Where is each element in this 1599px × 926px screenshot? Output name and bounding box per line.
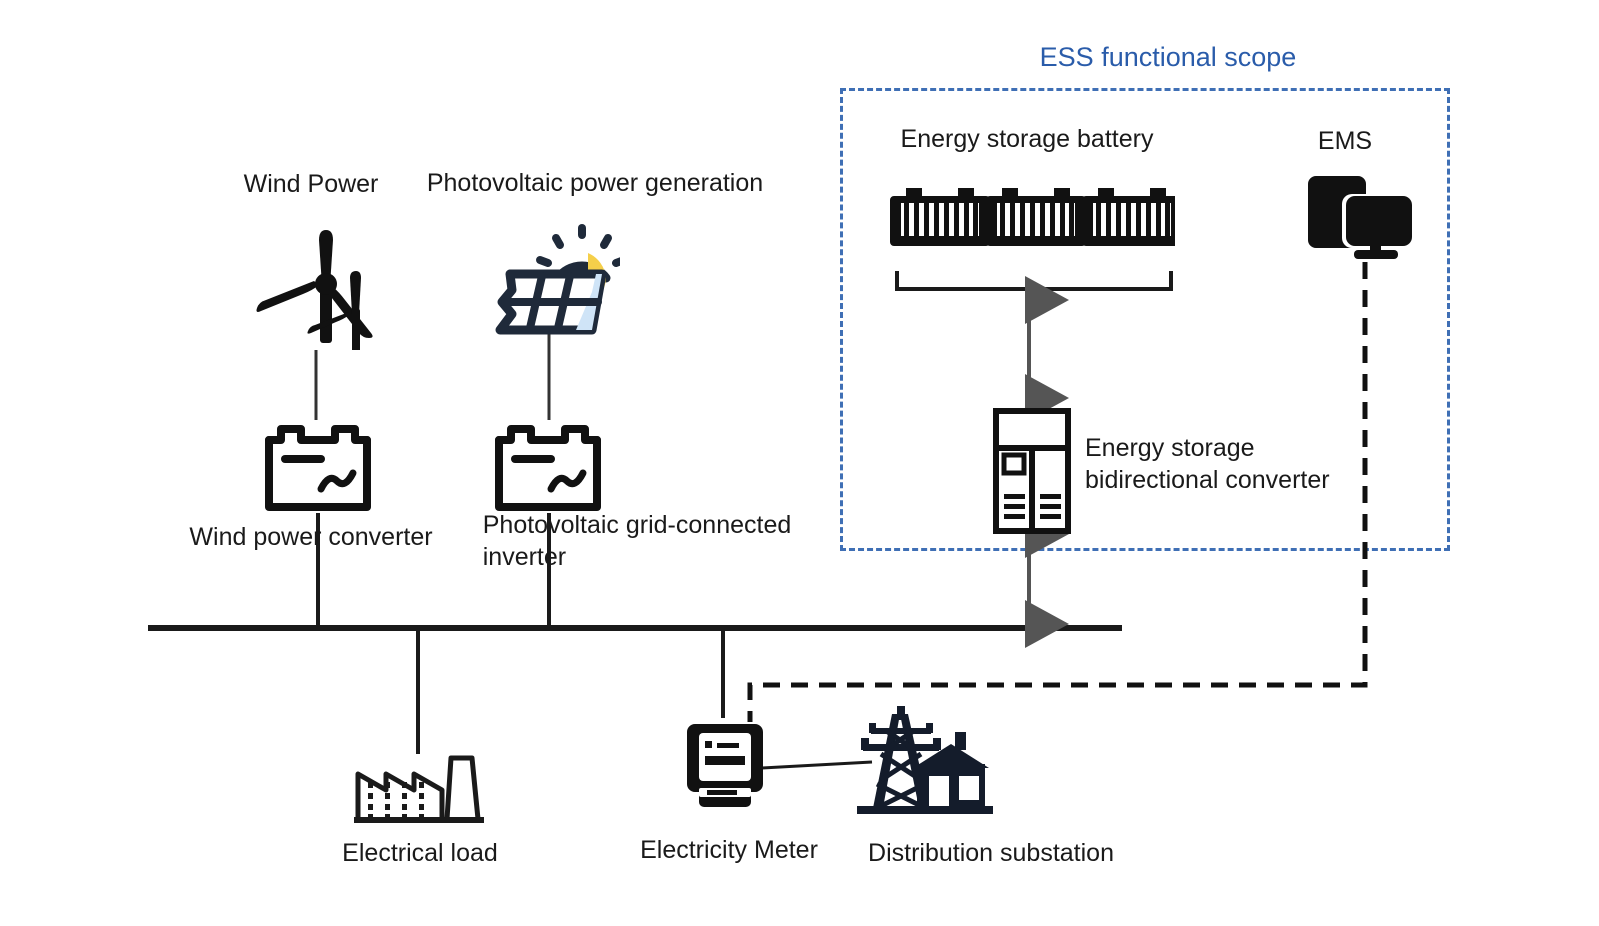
substation-icon bbox=[855, 706, 995, 818]
diagram-canvas: ESS functional scope bbox=[0, 0, 1599, 926]
label-energy-storage-battery: Energy storage battery bbox=[901, 123, 1154, 155]
label-bidirectional-converter-line2: bidirectional converter bbox=[1085, 464, 1330, 496]
ems-computer-icon bbox=[1308, 168, 1412, 262]
label-bidirectional-converter-line1: Energy storage bbox=[1085, 432, 1330, 464]
label-electricity-meter: Electricity Meter bbox=[640, 834, 818, 866]
battery-bank-icon bbox=[890, 178, 1175, 250]
label-pv-inverter-line1: Photovoltaic grid-connected bbox=[483, 509, 792, 541]
label-electrical-load: Electrical load bbox=[342, 837, 498, 869]
solar-panel-icon bbox=[480, 222, 620, 337]
label-ems: EMS bbox=[1318, 125, 1372, 157]
label-pv-inverter: Photovoltaic grid-connected inverter bbox=[483, 509, 792, 573]
factory-icon bbox=[352, 752, 487, 824]
label-distribution-substation: Distribution substation bbox=[868, 837, 1114, 869]
label-wind-power: Wind Power bbox=[244, 168, 379, 200]
label-wind-converter: Wind power converter bbox=[189, 521, 432, 553]
electricity-meter-icon bbox=[687, 716, 763, 811]
cabinet-converter-icon bbox=[993, 408, 1071, 534]
ess-scope-title: ESS functional scope bbox=[1040, 42, 1297, 73]
label-bidirectional-converter: Energy storage bidirectional converter bbox=[1085, 432, 1330, 496]
wind-turbine-icon bbox=[249, 225, 384, 350]
label-pv-inverter-line2: inverter bbox=[483, 541, 792, 573]
converter-icon bbox=[263, 421, 373, 513]
converter-icon bbox=[493, 421, 603, 513]
label-pv-generation: Photovoltaic power generation bbox=[427, 167, 763, 199]
